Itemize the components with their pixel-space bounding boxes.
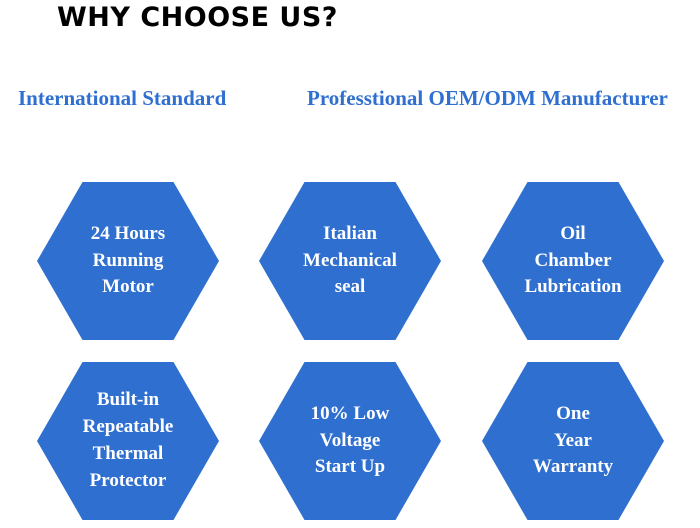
feature-label: 24 Hours Running Motor: [73, 221, 183, 302]
slide-canvas: WHY CHOOSE US? International Standard Pr…: [0, 0, 700, 528]
feature-label: Built-in Repeatable Thermal Protector: [65, 387, 192, 495]
subheading-international-standard: International Standard: [18, 86, 226, 111]
feature-hexagon-one-year-warranty: One Year Warranty: [482, 362, 664, 520]
subheading-professional-manufacturer: Professtional OEM/ODM Manufacturer: [307, 86, 668, 111]
page-title: WHY CHOOSE US?: [57, 2, 338, 33]
feature-label: 10% Low Voltage Start Up: [293, 401, 408, 482]
feature-label: Oil Chamber Lubrication: [506, 221, 639, 302]
feature-hexagon-oil-chamber-lubrication: Oil Chamber Lubrication: [482, 182, 664, 340]
feature-hexagon-built-in-repeatable-thermal-protector: Built-in Repeatable Thermal Protector: [37, 362, 219, 520]
feature-hexagon-24-hours-running-motor: 24 Hours Running Motor: [37, 182, 219, 340]
feature-label: Italian Mechanical seal: [285, 221, 415, 302]
feature-label: One Year Warranty: [515, 401, 631, 482]
feature-hexagon-10-percent-low-voltage-start-up: 10% Low Voltage Start Up: [259, 362, 441, 520]
feature-hexagon-italian-mechanical-seal: Italian Mechanical seal: [259, 182, 441, 340]
